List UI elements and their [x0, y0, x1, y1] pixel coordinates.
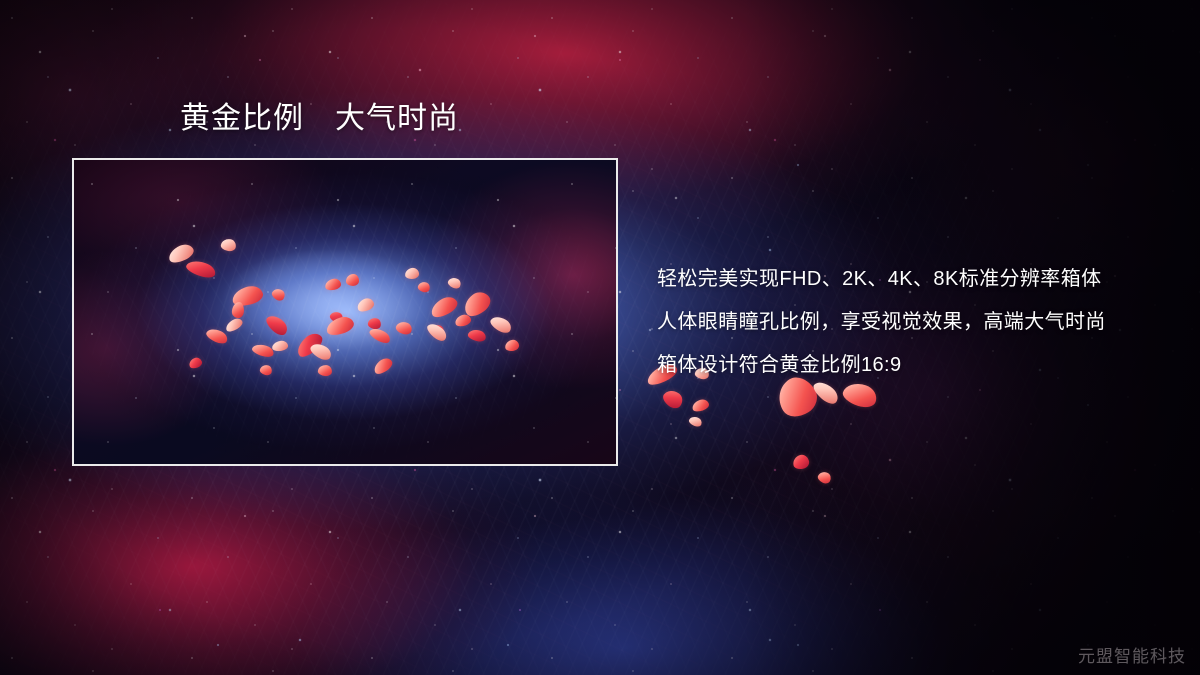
description-line: 轻松完美实现FHD、2K、4K、8K标准分辨率箱体	[657, 258, 1177, 301]
flower-petal	[688, 415, 703, 428]
feature-description-block: 轻松完美实现FHD、2K、4K、8K标准分辨率箱体 人体眼睛瞳孔比例，享受视觉效…	[657, 258, 1177, 387]
flower-petal	[816, 470, 833, 486]
flower-petal	[660, 387, 686, 412]
presentation-slide: 黄金比例 大气时尚 轻松完美实现FHD、2K、4K、8K标准分辨率箱体 人体眼睛…	[0, 0, 1200, 675]
framed-image-starfield	[74, 160, 616, 464]
flower-petal	[792, 453, 811, 470]
flower-petal	[691, 398, 711, 414]
description-line: 箱体设计符合黄金比例16:9	[657, 344, 1177, 387]
framed-image	[72, 158, 618, 466]
page-title: 黄金比例 大气时尚	[180, 102, 459, 136]
description-line: 人体眼睛瞳孔比例，享受视觉效果，高端大气时尚	[657, 301, 1177, 344]
company-watermark: 元盟智能科技	[1078, 642, 1186, 667]
